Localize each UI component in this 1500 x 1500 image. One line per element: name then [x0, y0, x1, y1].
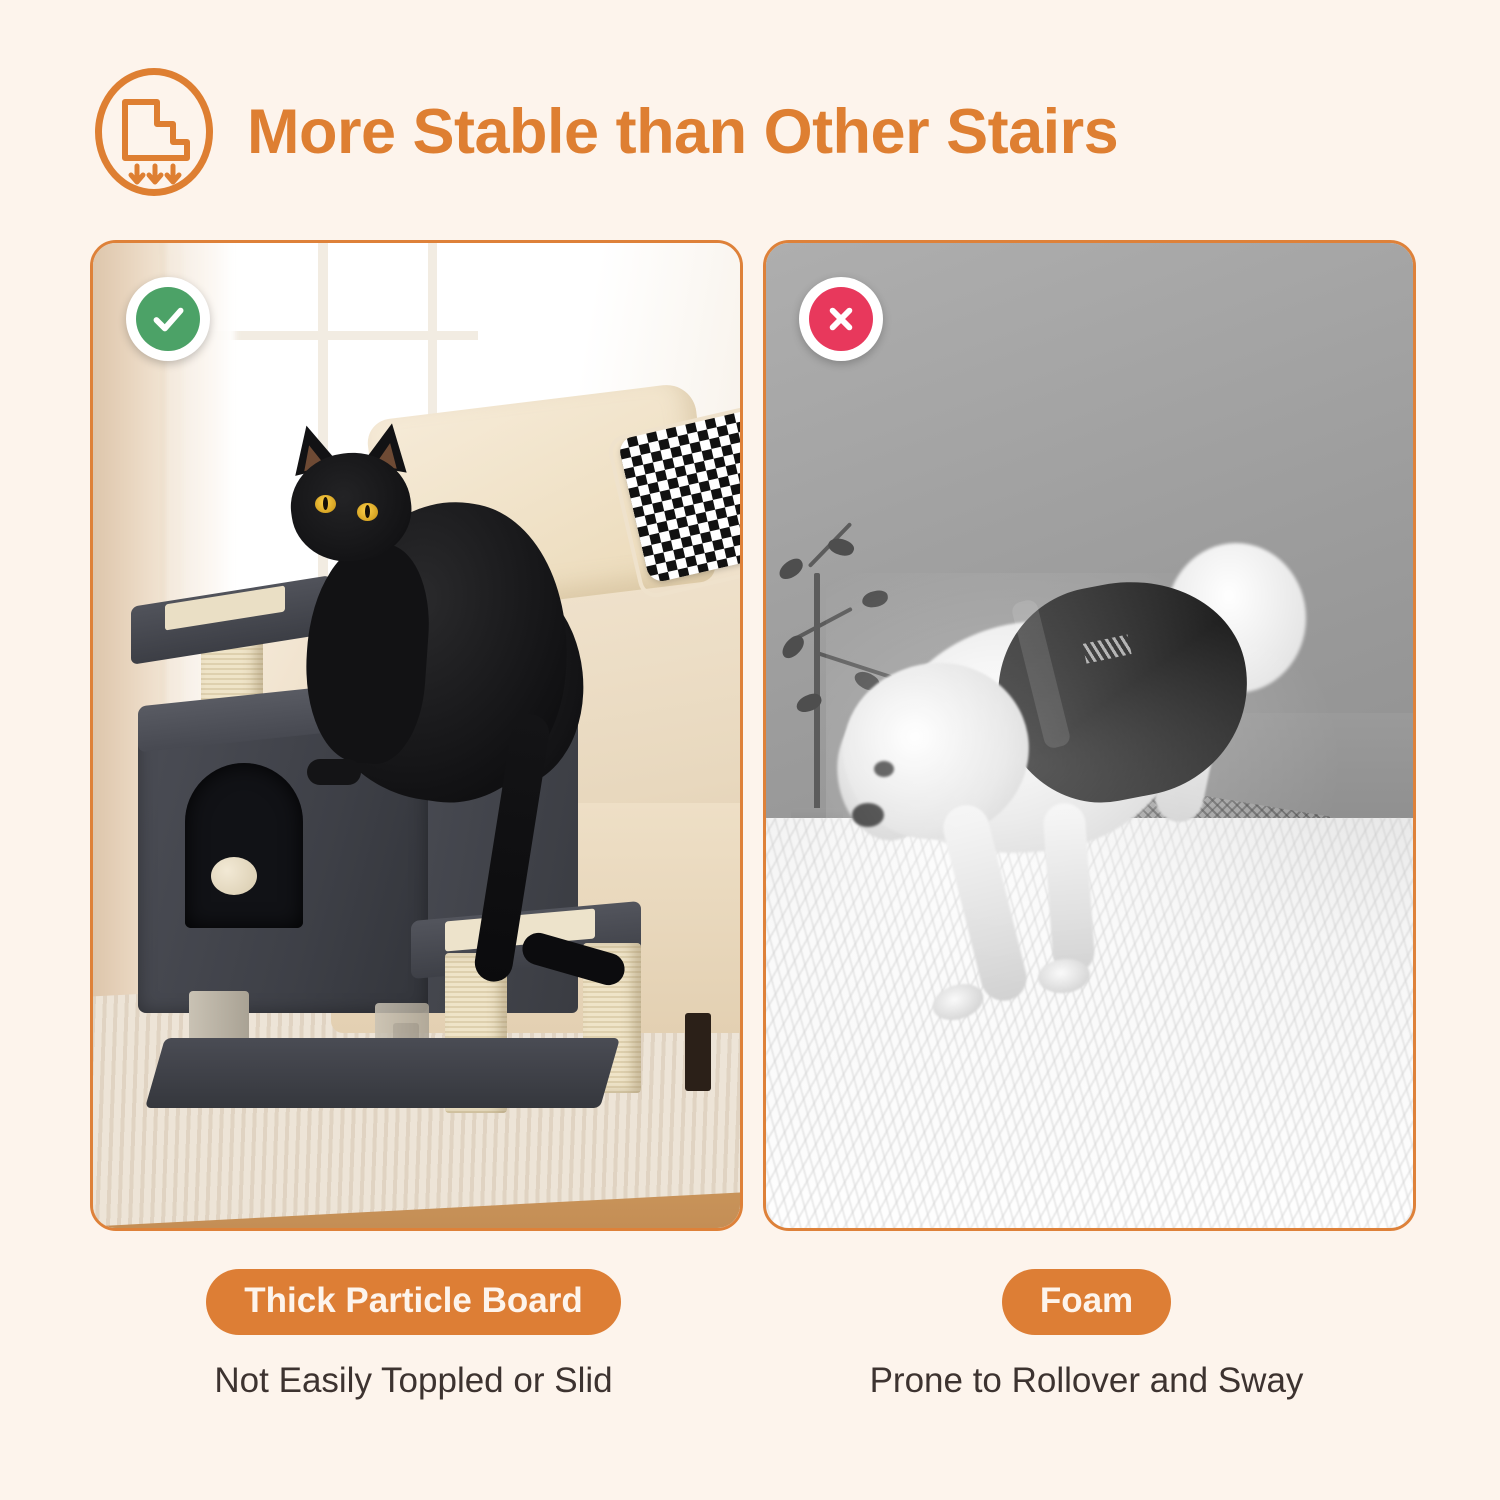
material-pill-left: Thick Particle Board: [206, 1269, 620, 1335]
comparison-column-left: [90, 240, 737, 1231]
caption-right: Prone to Rollover and Sway: [763, 1361, 1410, 1401]
material-pill-right: Foam: [1002, 1269, 1171, 1335]
page-title: More Stable than Other Stairs: [247, 101, 1118, 164]
label-block-left: Thick Particle Board Not Easily Toppled …: [90, 1269, 737, 1401]
status-badge-rejected: [799, 277, 883, 361]
check-circle-icon: [136, 287, 200, 351]
cat-condo-entrance: [185, 763, 303, 928]
photo-bad-foam-stairs: [766, 243, 1413, 1228]
caption-left: Not Easily Toppled or Slid: [90, 1361, 737, 1401]
cat-pupil-right: [365, 505, 370, 518]
infographic-page: More Stable than Other Stairs: [0, 0, 1500, 1500]
photo-good-cat-stairs: [93, 243, 740, 1228]
header: More Stable than Other Stairs: [95, 62, 1425, 202]
sofa-leg: [685, 1013, 711, 1091]
cat-pupil-left: [323, 497, 328, 510]
status-badge-approved: [126, 277, 210, 361]
comparison-column-right: [763, 240, 1410, 1231]
dangling-pom-ball: [211, 857, 257, 895]
cat-front-paw: [307, 759, 361, 785]
label-block-right: Foam Prone to Rollover and Sway: [763, 1269, 1410, 1401]
cat-tree-base-board: [145, 1038, 620, 1108]
stairs-down-arrows-icon: [95, 68, 213, 196]
photo-frame-good: [90, 240, 743, 1231]
x-circle-icon: [809, 287, 873, 351]
dog-nose: [852, 803, 884, 827]
dog-eye: [874, 761, 894, 777]
photo-frame-bad: [763, 240, 1416, 1231]
